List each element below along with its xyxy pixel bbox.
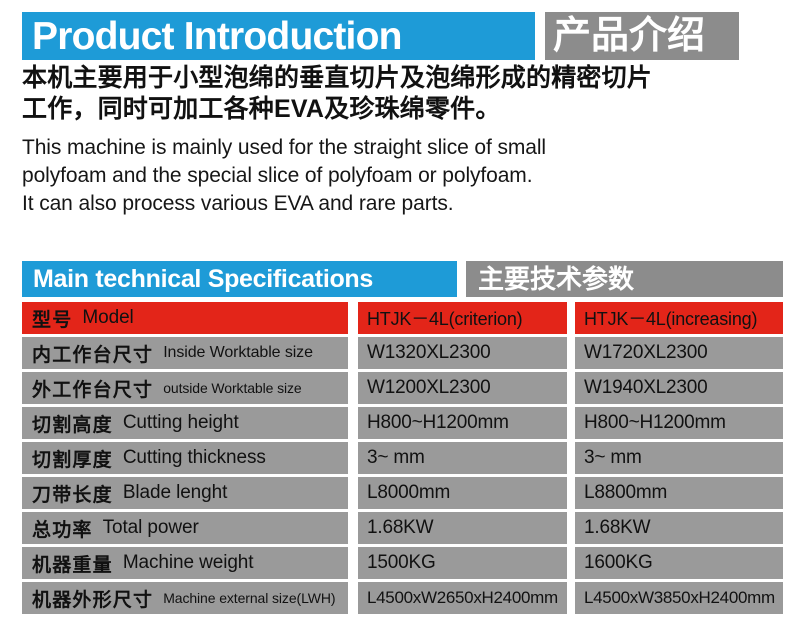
spec-value-criterion-cell: 1500KG xyxy=(358,547,567,579)
spec-label-english: Cutting height xyxy=(123,412,239,434)
spec-label-cell: 机器重量Machine weight xyxy=(22,547,348,579)
spec-value-increasing: W1940XL2300 xyxy=(584,372,708,404)
spec-value-increasing-cell: W1940XL2300 xyxy=(575,372,783,404)
spec-value-increasing: HTJK－4L(increasing) xyxy=(584,302,757,334)
intro-chinese-line-2: 工作，同时可加工各种EVA及珍珠绵零件。 xyxy=(22,94,722,125)
spec-label-chinese: 内工作台尺寸 xyxy=(32,340,153,367)
spec-value-criterion: HTJK－4L(criterion) xyxy=(367,302,522,334)
spec-label-cell: 机器外形尺寸Machine external size(LWH) xyxy=(22,582,348,614)
spec-label-english: Machine external size(LWH) xyxy=(163,590,335,606)
spec-label-cell: 刀带长度Blade lenght xyxy=(22,477,348,509)
spec-label-english: Total power xyxy=(103,517,199,539)
title-chinese-bar: 产品介绍 xyxy=(545,12,739,60)
table-row: 刀带长度Blade lenghtL8000mmL8800mm xyxy=(0,477,800,509)
spec-label-chinese: 机器外形尺寸 xyxy=(32,585,153,612)
spec-value-criterion-cell: 1.68KW xyxy=(358,512,567,544)
table-row: 总功率Total power1.68KW1.68KW xyxy=(0,512,800,544)
spec-value-increasing: 3~ mm xyxy=(584,442,642,474)
spec-label-english: Blade lenght xyxy=(123,482,227,504)
spec-value-increasing-cell: 1.68KW xyxy=(575,512,783,544)
specs-header-chinese-bar: 主要技术参数 xyxy=(466,261,783,297)
spec-label-cell: 外工作台尺寸outside Worktable size xyxy=(22,372,348,404)
spec-value-criterion: L4500xW2650xH2400mm xyxy=(367,582,558,614)
table-row: 切割高度Cutting heightH800~H1200mmH800~H1200… xyxy=(0,407,800,439)
intro-paragraph-english: This machine is mainly used for the stra… xyxy=(22,134,742,218)
spec-value-increasing: W1720XL2300 xyxy=(584,337,708,369)
spec-value-criterion: W1200XL2300 xyxy=(367,372,491,404)
spec-value-increasing: 1600KG xyxy=(584,547,653,579)
spec-value-criterion-cell: L4500xW2650xH2400mm xyxy=(358,582,567,614)
spec-label-english: Model xyxy=(82,307,133,329)
spec-value-criterion-cell: L8000mm xyxy=(358,477,567,509)
spec-label-chinese: 外工作台尺寸 xyxy=(32,375,153,402)
spec-label-cell: 切割厚度Cutting thickness xyxy=(22,442,348,474)
specs-header-title: Main technical Specifications xyxy=(33,261,373,297)
spec-value-criterion: 3~ mm xyxy=(367,442,425,474)
table-row: 机器外形尺寸Machine external size(LWH)L4500xW2… xyxy=(0,582,800,614)
product-introduction-title-band: Product Introduction 产品介绍 xyxy=(0,12,800,60)
spec-value-criterion: 1.68KW xyxy=(367,512,433,544)
spec-value-increasing-cell: 3~ mm xyxy=(575,442,783,474)
title-english-bar: Product Introduction xyxy=(22,12,535,60)
spec-value-criterion-cell: H800~H1200mm xyxy=(358,407,567,439)
spec-value-criterion-cell: HTJK－4L(criterion) xyxy=(358,302,567,334)
spec-label-english: outside Worktable size xyxy=(163,380,301,396)
table-row: 机器重量Machine weight1500KG1600KG xyxy=(0,547,800,579)
spec-label-chinese: 机器重量 xyxy=(32,550,113,577)
intro-paragraph-chinese: 本机主要用于小型泡绵的垂直切片及泡绵形成的精密切片 工作，同时可加工各种EVA及… xyxy=(22,63,722,125)
spec-value-increasing: L4500xW3850xH2400mm xyxy=(584,582,775,614)
spec-value-criterion-cell: W1200XL2300 xyxy=(358,372,567,404)
table-row: 切割厚度Cutting thickness3~ mm3~ mm xyxy=(0,442,800,474)
spec-value-increasing-cell: W1720XL2300 xyxy=(575,337,783,369)
intro-english-line-3: It can also process various EVA and rare… xyxy=(22,190,742,218)
spec-value-increasing-cell: 1600KG xyxy=(575,547,783,579)
spec-value-criterion-cell: W1320XL2300 xyxy=(358,337,567,369)
spec-value-increasing-cell: H800~H1200mm xyxy=(575,407,783,439)
specs-header-title-chinese: 主要技术参数 xyxy=(478,261,634,298)
page-title-chinese: 产品介绍 xyxy=(553,13,705,59)
spec-label-chinese: 刀带长度 xyxy=(32,480,113,507)
page-title: Product Introduction xyxy=(32,14,402,59)
spec-value-increasing-cell: HTJK－4L(increasing) xyxy=(575,302,783,334)
spec-value-increasing: L8800mm xyxy=(584,477,667,509)
spec-label-chinese: 型号 xyxy=(32,305,72,332)
spec-label-english: Inside Worktable size xyxy=(163,344,313,362)
specs-header-english-bar: Main technical Specifications xyxy=(22,261,457,297)
table-header-row: 型号ModelHTJK－4L(criterion)HTJK－4L(increas… xyxy=(0,302,800,334)
intro-chinese-line-1: 本机主要用于小型泡绵的垂直切片及泡绵形成的精密切片 xyxy=(22,63,722,94)
specifications-header-band: Main technical Specifications 主要技术参数 xyxy=(0,261,800,297)
spec-value-increasing: H800~H1200mm xyxy=(584,407,726,439)
spec-label-cell: 内工作台尺寸Inside Worktable size xyxy=(22,337,348,369)
spec-value-criterion: 1500KG xyxy=(367,547,436,579)
spec-label-chinese: 总功率 xyxy=(32,515,93,542)
spec-value-criterion-cell: 3~ mm xyxy=(358,442,567,474)
table-row: 内工作台尺寸Inside Worktable sizeW1320XL2300W1… xyxy=(0,337,800,369)
intro-english-line-1: This machine is mainly used for the stra… xyxy=(22,134,742,162)
spec-value-increasing-cell: L4500xW3850xH2400mm xyxy=(575,582,783,614)
spec-value-criterion: L8000mm xyxy=(367,477,450,509)
specifications-table: 型号ModelHTJK－4L(criterion)HTJK－4L(increas… xyxy=(0,302,800,617)
spec-value-criterion: W1320XL2300 xyxy=(367,337,491,369)
spec-value-criterion: H800~H1200mm xyxy=(367,407,509,439)
spec-label-chinese: 切割高度 xyxy=(32,410,113,437)
spec-label-english: Cutting thickness xyxy=(123,447,266,469)
spec-label-chinese: 切割厚度 xyxy=(32,445,113,472)
spec-value-increasing-cell: L8800mm xyxy=(575,477,783,509)
spec-label-cell: 切割高度Cutting height xyxy=(22,407,348,439)
table-row: 外工作台尺寸outside Worktable sizeW1200XL2300W… xyxy=(0,372,800,404)
intro-english-line-2: polyfoam and the special slice of polyfo… xyxy=(22,162,742,190)
spec-label-cell: 总功率Total power xyxy=(22,512,348,544)
spec-value-increasing: 1.68KW xyxy=(584,512,650,544)
spec-label-cell: 型号Model xyxy=(22,302,348,334)
spec-label-english: Machine weight xyxy=(123,552,254,574)
